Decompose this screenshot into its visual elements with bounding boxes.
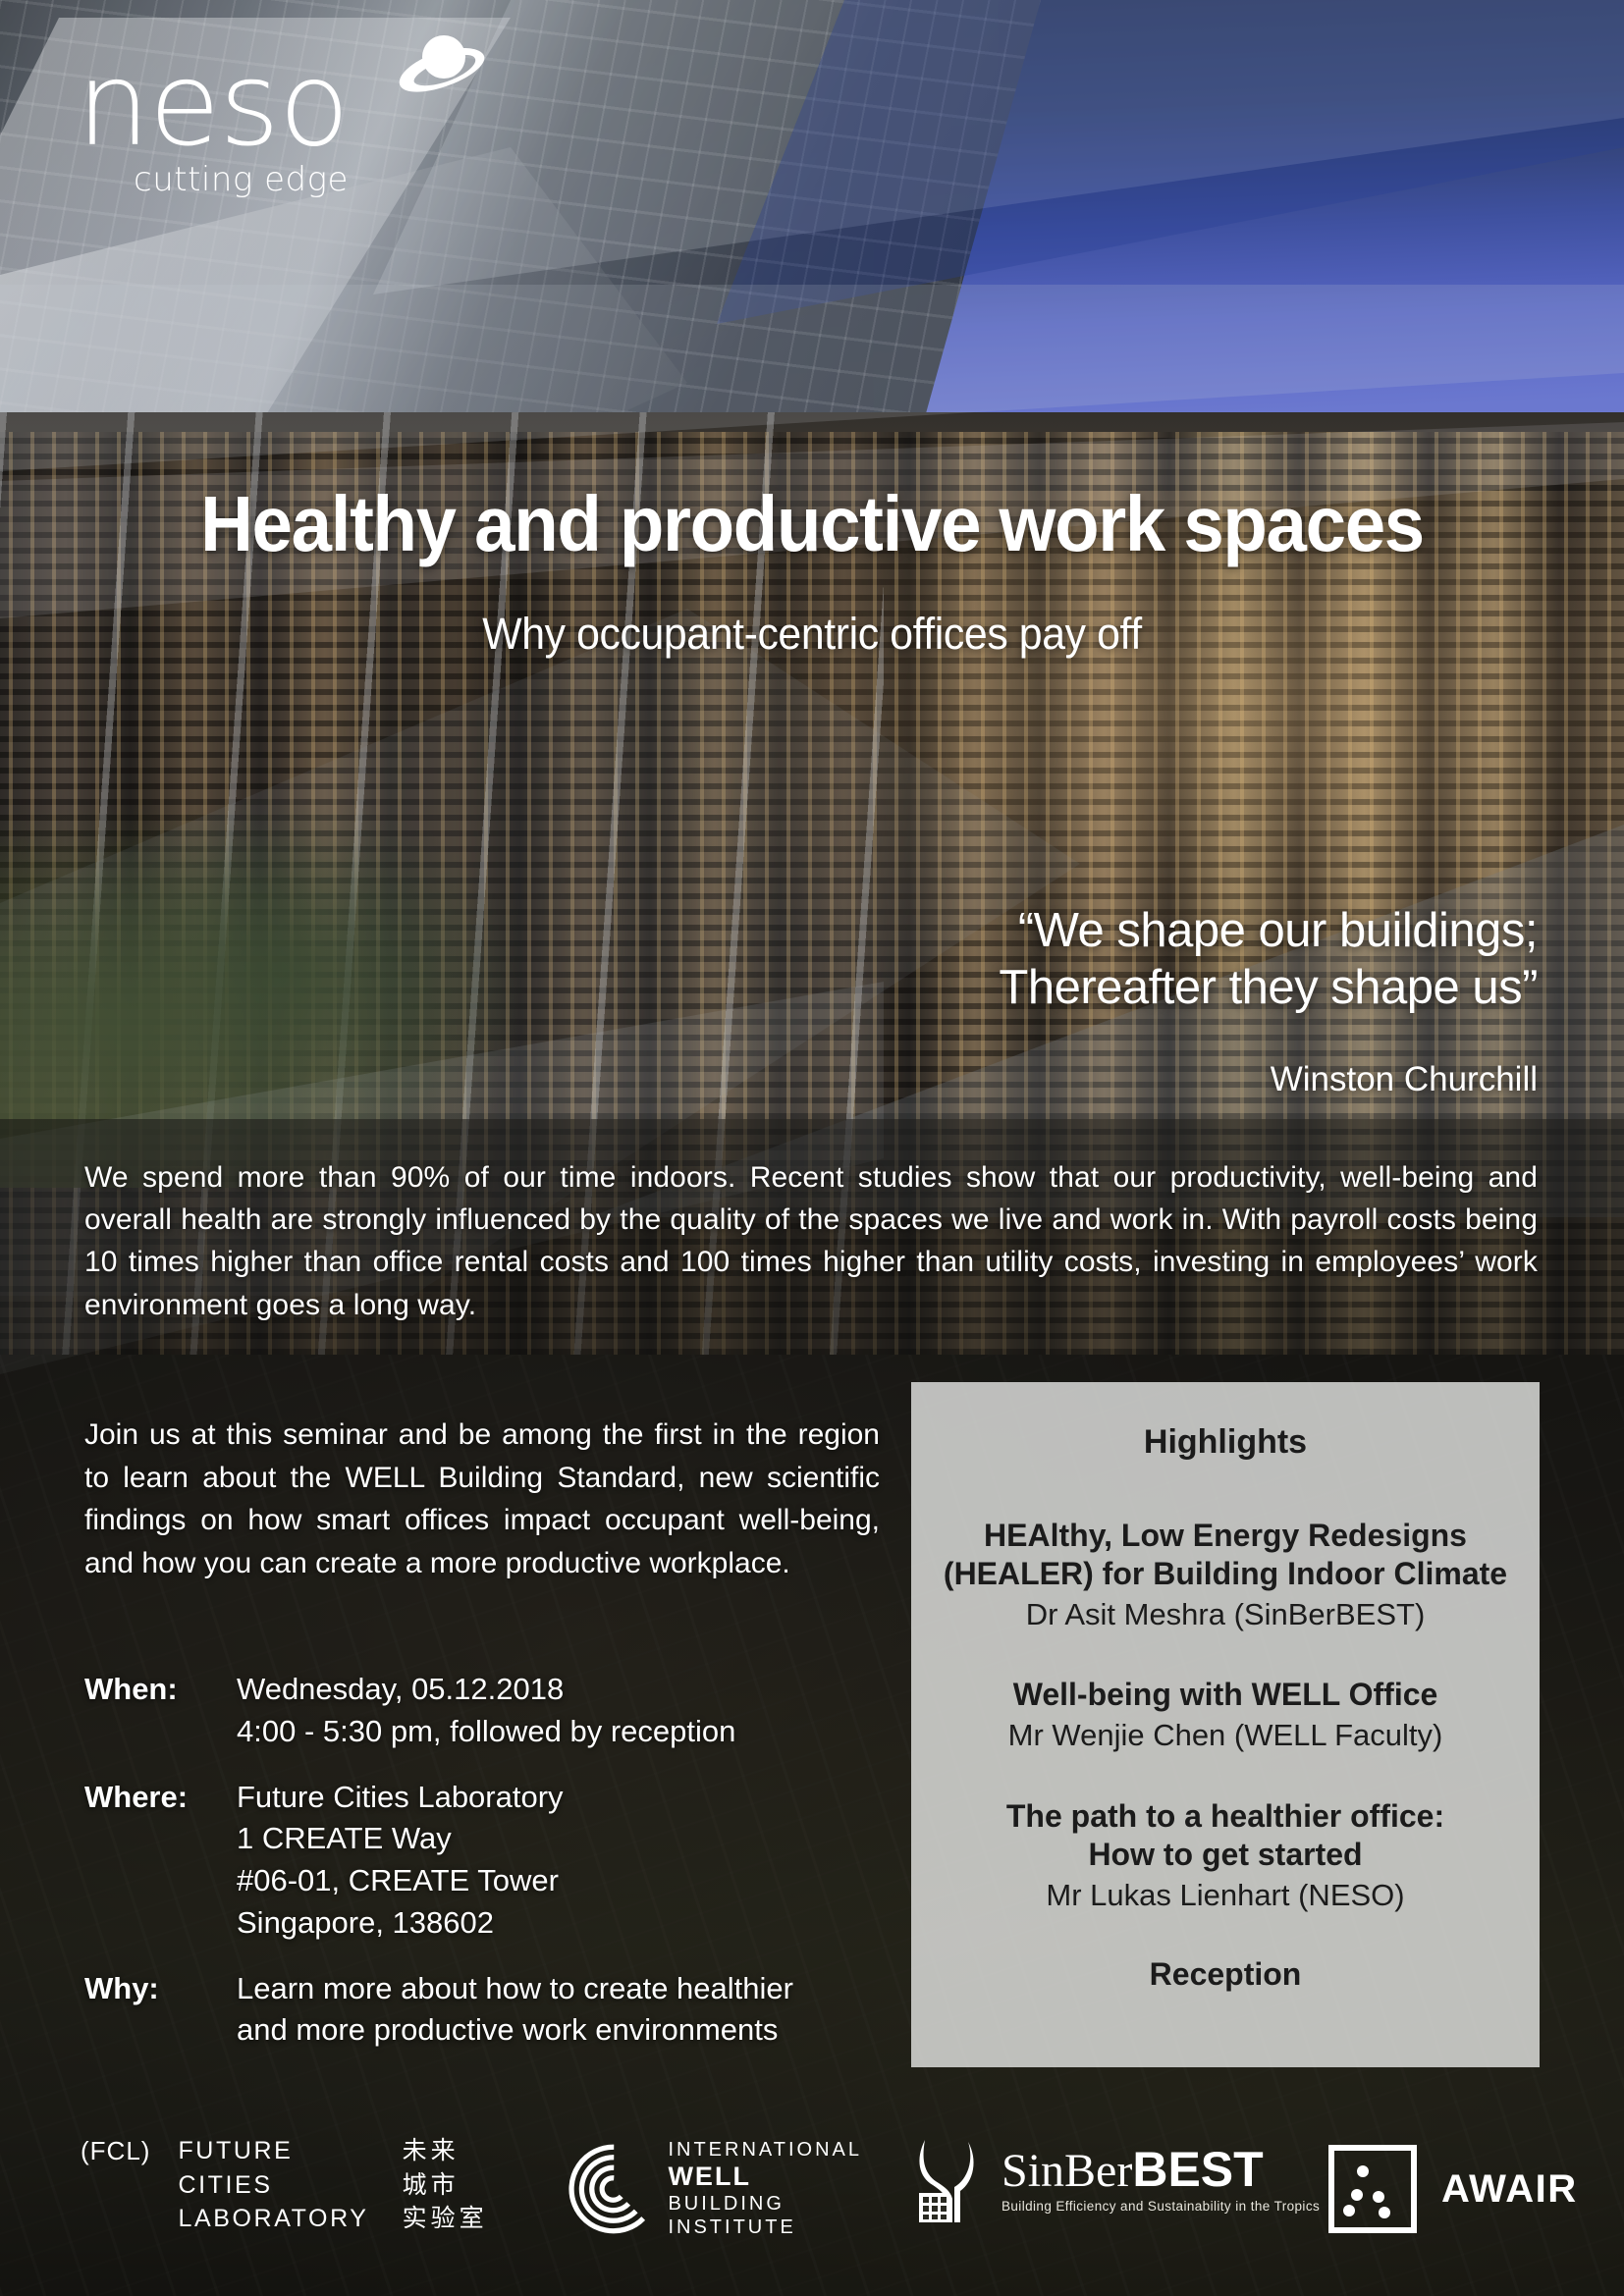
- why-value: Learn more about how to create healthier…: [237, 1968, 793, 2053]
- event-details: When: Wednesday, 05.12.2018 4:00 - 5:30 …: [84, 1669, 899, 2075]
- highlight-title-line-1: Well-being with WELL Office: [937, 1676, 1514, 1714]
- highlight-title-line-2: (HEALER) for Building Indoor Climate: [937, 1555, 1514, 1593]
- when-line-2: 4:00 - 5:30 pm, followed by reception: [237, 1711, 735, 1753]
- where-line-2: 1 CREATE Way: [237, 1818, 564, 1860]
- quote-line-1: “We shape our buildings;: [791, 903, 1538, 960]
- page-title: Healthy and productive work spaces: [57, 479, 1567, 569]
- awair-dots-square-icon: [1327, 2144, 1418, 2234]
- highlight-item: HEAlthy, Low Energy Redesigns (HEALER) f…: [937, 1517, 1514, 1634]
- highlight-title-line-1: The path to a healthier office:: [937, 1797, 1514, 1836]
- rooftop-greenery: [0, 775, 589, 1188]
- fcl-en-line-3: LABORATORY: [178, 2202, 368, 2236]
- highlights-closing: Reception: [937, 1956, 1514, 1993]
- fcl-en-line-1: FUTURE: [178, 2134, 368, 2168]
- where-label: Where:: [84, 1777, 237, 1945]
- iwbi-line-3: BUILDING: [668, 2193, 862, 2216]
- fcl-logo: (FCL) FUTURE CITIES LABORATORY 未来 城市 实验室: [81, 2134, 488, 2236]
- intro-paragraph: We spend more than 90% of our time indoo…: [84, 1156, 1538, 1326]
- fcl-name-cn: 未来 城市 实验室: [403, 2134, 488, 2236]
- where-line-1: Future Cities Laboratory: [237, 1777, 564, 1819]
- fcl-name-en: FUTURE CITIES LABORATORY: [178, 2134, 368, 2236]
- fcl-cn-line-3: 实验室: [403, 2202, 488, 2236]
- detail-row-where: Where: Future Cities Laboratory 1 CREATE…: [84, 1777, 899, 1945]
- where-line-3: #06-01, CREATE Tower: [237, 1860, 564, 1902]
- quote-line-2: Thereafter they shape us”: [791, 960, 1538, 1017]
- fcl-abbreviation: (FCL): [81, 2134, 150, 2166]
- fcl-cn-line-2: 城市: [403, 2168, 488, 2203]
- highlight-speaker: Mr Lukas Lienhart (NESO): [937, 1876, 1514, 1915]
- footer-logos: (FCL) FUTURE CITIES LABORATORY 未来 城市 实验室: [0, 2110, 1624, 2296]
- sinberbest-name-bold: BEST: [1132, 2142, 1263, 2197]
- churchill-quote: “We shape our buildings; Thereafter they…: [791, 903, 1538, 1017]
- sinberbest-logo: SinBerBEST Building Efficiency and Susta…: [911, 2132, 1320, 2226]
- highlight-speaker: Mr Wenjie Chen (WELL Faculty): [937, 1716, 1514, 1755]
- neso-tagline: cutting edge: [134, 160, 489, 199]
- sinberbest-tagline: Building Efficiency and Sustainability i…: [1001, 2199, 1320, 2214]
- why-label: Why:: [84, 1968, 237, 2053]
- when-value: Wednesday, 05.12.2018 4:00 - 5:30 pm, fo…: [237, 1669, 735, 1753]
- highlight-item: The path to a healthier office: How to g…: [937, 1797, 1514, 1915]
- poster-canvas: neso cutting edge Healthy and productive…: [0, 0, 1624, 2296]
- iwbi-wordmark: INTERNATIONAL WELL BUILDING INSTITUTE: [668, 2139, 862, 2240]
- invitation-paragraph: Join us at this seminar and be among the…: [84, 1414, 880, 1584]
- awair-wordmark: AWAIR: [1441, 2167, 1578, 2212]
- highlights-title: Highlights: [937, 1423, 1514, 1462]
- iwbi-line-1: INTERNATIONAL: [668, 2139, 862, 2163]
- why-line-2: and more productive work environments: [237, 2009, 793, 2052]
- awair-logo: AWAIR: [1327, 2144, 1578, 2234]
- iwbi-concentric-arcs-icon: [568, 2127, 660, 2251]
- sinberbest-leaf-building-icon: [911, 2132, 992, 2226]
- highlight-title-line-1: HEAlthy, Low Energy Redesigns: [937, 1517, 1514, 1555]
- fcl-en-line-2: CITIES: [178, 2168, 368, 2203]
- when-label: When:: [84, 1669, 237, 1753]
- sinberbest-name: SinBerBEST: [1001, 2145, 1320, 2195]
- highlight-item: Well-being with WELL Office Mr Wenjie Ch…: [937, 1676, 1514, 1755]
- quote-attribution: Winston Churchill: [791, 1060, 1538, 1099]
- iwbi-line-2: WELL: [668, 2162, 862, 2193]
- when-line-1: Wednesday, 05.12.2018: [237, 1669, 735, 1711]
- iwbi-logo: INTERNATIONAL WELL BUILDING INSTITUTE: [568, 2120, 862, 2258]
- fcl-cn-line-1: 未来: [403, 2134, 488, 2168]
- sinberbest-wordmark: SinBerBEST Building Efficiency and Susta…: [1001, 2145, 1320, 2214]
- sinberbest-name-light: SinBer: [1001, 2145, 1132, 2197]
- iwbi-line-4: INSTITUTE: [668, 2216, 862, 2240]
- where-value: Future Cities Laboratory 1 CREATE Way #0…: [237, 1777, 564, 1945]
- page-subtitle: Why occupant-centric offices pay off: [40, 609, 1583, 660]
- highlight-speaker: Dr Asit Meshra (SinBerBEST): [937, 1595, 1514, 1634]
- where-line-4: Singapore, 138602: [237, 1902, 564, 1945]
- highlight-title-line-2: How to get started: [937, 1836, 1514, 1874]
- detail-row-why: Why: Learn more about how to create heal…: [84, 1968, 899, 2053]
- why-line-1: Learn more about how to create healthier: [237, 1968, 793, 2010]
- detail-row-when: When: Wednesday, 05.12.2018 4:00 - 5:30 …: [84, 1669, 899, 1753]
- highlights-panel: Highlights HEAlthy, Low Energy Redesigns…: [911, 1382, 1540, 2067]
- saturn-planet-icon: [393, 26, 487, 104]
